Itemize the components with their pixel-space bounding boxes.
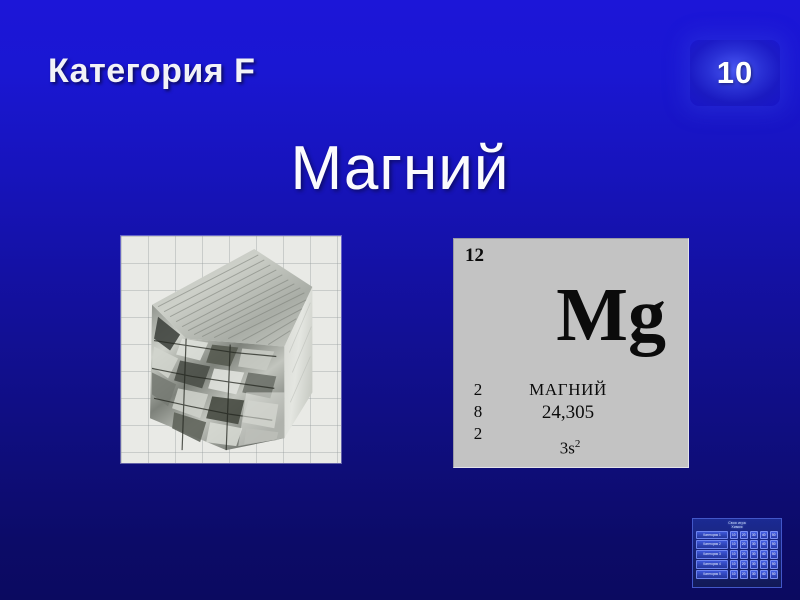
score-value: 10 <box>717 55 753 91</box>
board-category-label: Категория 1 <box>696 531 728 540</box>
board-value-cell[interactable]: 20 <box>740 550 749 559</box>
board-value-cell[interactable]: 30 <box>750 560 759 569</box>
board-value-cell[interactable]: 10 <box>730 560 739 569</box>
board-value-cell[interactable]: 50 <box>770 531 779 540</box>
board-thumbnail-title-line2: Химия <box>696 525 778 529</box>
board-thumbnail-row[interactable]: Категория 1 10 20 30 40 50 <box>696 531 778 540</box>
board-value-cell[interactable]: 50 <box>770 570 779 579</box>
board-value-cell[interactable]: 20 <box>740 560 749 569</box>
board-value-cell[interactable]: 40 <box>760 550 769 559</box>
periodic-element-card: 12 Mg 2 8 2 МАГНИЙ 24,305 3s2 <box>453 238 689 468</box>
score-badge[interactable]: 10 <box>690 40 780 106</box>
board-category-label: Категория 3 <box>696 550 728 559</box>
element-title: Магний <box>0 133 800 204</box>
board-value-cell[interactable]: 10 <box>730 550 739 559</box>
board-value-cell[interactable]: 10 <box>730 540 739 549</box>
board-value-cell[interactable]: 40 <box>760 531 769 540</box>
board-value-cell[interactable]: 20 <box>740 570 749 579</box>
board-thumbnail-row[interactable]: Категория 3 10 20 30 40 50 <box>696 550 778 559</box>
board-category-label: Категория 5 <box>696 570 728 579</box>
board-thumbnail-row[interactable]: Категория 2 10 20 30 40 50 <box>696 540 778 549</box>
board-value-cell[interactable]: 40 <box>760 540 769 549</box>
board-value-cell[interactable]: 30 <box>750 540 759 549</box>
element-symbol: Mg <box>556 279 666 351</box>
board-thumbnail-row[interactable]: Категория 4 10 20 30 40 50 <box>696 560 778 569</box>
board-value-cell[interactable]: 20 <box>740 540 749 549</box>
board-value-cell[interactable]: 50 <box>770 560 779 569</box>
board-category-label: Категория 2 <box>696 540 728 549</box>
category-label: Категория F <box>48 52 255 91</box>
element-name-russian: МАГНИЙ <box>454 380 682 400</box>
board-value-cell[interactable]: 10 <box>730 570 739 579</box>
board-thumbnail-title: Своя игра Химия <box>696 521 778 530</box>
board-value-cell[interactable]: 50 <box>770 540 779 549</box>
board-thumbnail-row[interactable]: Категория 5 10 20 30 40 50 <box>696 570 778 579</box>
atomic-mass: 24,305 <box>454 402 682 424</box>
board-value-cell[interactable]: 10 <box>730 531 739 540</box>
board-value-cell[interactable]: 20 <box>740 531 749 540</box>
board-value-cell[interactable]: 30 <box>750 531 759 540</box>
magnesium-ingot-image <box>134 243 314 454</box>
board-value-cell[interactable]: 40 <box>760 560 769 569</box>
board-category-label: Категория 4 <box>696 560 728 569</box>
electron-configuration-exponent: 2 <box>575 438 581 450</box>
presentation-slide: Категория F 10 Магний <box>0 0 800 600</box>
board-value-cell[interactable]: 50 <box>770 550 779 559</box>
magnesium-sample-photo <box>121 236 341 463</box>
board-value-cell[interactable]: 30 <box>750 570 759 579</box>
board-value-cell[interactable]: 30 <box>750 550 759 559</box>
game-board-thumbnail[interactable]: Своя игра Химия Категория 1 10 20 30 40 … <box>692 518 782 588</box>
electron-configuration: 3s2 <box>454 438 686 459</box>
board-value-cell[interactable]: 40 <box>760 570 769 579</box>
atomic-number: 12 <box>465 245 484 267</box>
electron-configuration-base: 3s <box>560 439 575 458</box>
